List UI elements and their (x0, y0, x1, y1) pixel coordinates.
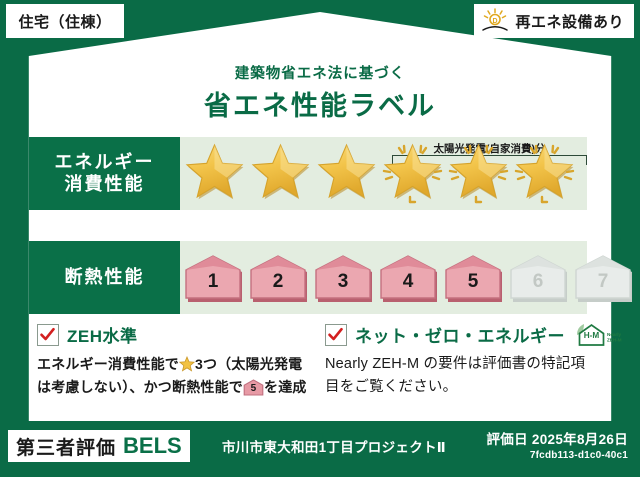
star-icon-filled (248, 139, 313, 209)
zeh-m-logo-caption2: ZEH-M (607, 337, 622, 342)
zeh-standard-title: ZEH水準 (67, 322, 138, 347)
insulation-grade-5: 5 (442, 254, 504, 302)
criteria-zeh-standard: ZEH水準 エネルギー消費性能で3つ（太陽光発電は考慮しない）、かつ断熱性能で5… (37, 322, 307, 398)
star-icon-filled (314, 139, 379, 209)
svg-text:D: D (493, 18, 498, 25)
star-icon-filled (182, 139, 247, 209)
insulation-grade-scale: 1234567 (182, 241, 634, 314)
energy-row-label: エネルギー 消費性能 (29, 137, 180, 210)
energy-row-label-line1: エネルギー (55, 152, 155, 174)
grade-badge-icon: 5 (243, 379, 264, 396)
energy-star-rating (182, 137, 577, 210)
zeh-standard-description: エネルギー消費性能で3つ（太陽光発電は考慮しない）、かつ断熱性能で5を達成 (37, 353, 307, 398)
insulation-grade-4: 4 (377, 254, 439, 302)
insulation-grade-7: 7 (572, 254, 634, 302)
renewable-equipment-chip: D 再エネ設備あり (474, 4, 634, 38)
insulation-grade-value: 1 (182, 271, 244, 293)
grade-badge-value: 5 (243, 381, 264, 397)
zeh-standard-checkbox (37, 324, 59, 346)
insulation-grade-value: 6 (507, 271, 569, 293)
energy-row-label-line2: 消費性能 (65, 174, 145, 196)
insulation-grade-value: 7 (572, 271, 634, 293)
label-subtitle: 建築物省エネ法に基づく (29, 62, 611, 83)
star-icon-solar (380, 139, 445, 209)
net-zero-checkbox (325, 324, 347, 346)
insulation-performance-row: 断熱性能 1234567 (29, 241, 587, 314)
star-icon-solar (512, 139, 577, 209)
category-chip-label: 住宅（住棟） (18, 11, 111, 32)
project-name: 市川市東大和田1丁目プロジェクトⅡ (222, 436, 446, 456)
insulation-grade-value: 3 (312, 271, 374, 293)
zeh-m-logo-text: H-M (584, 331, 600, 340)
bels-badge-jp: 第三者評価 (16, 433, 116, 460)
zeh-standard-header: ZEH水準 (37, 322, 307, 347)
insulation-grade-value: 5 (442, 271, 504, 293)
evaluation-info: 評価日 2025年8月26日 7fcdb113-d1c0-40c1 (486, 428, 628, 461)
insulation-grade-1: 1 (182, 254, 244, 302)
net-zero-header: ネット・ゼロ・エネルギー H-M Nearly ZEH-M (325, 322, 595, 347)
energy-row-body: 太陽光発電(自家消費)分 (180, 137, 587, 210)
insulation-grade-6: 6 (507, 254, 569, 302)
energy-performance-row: エネルギー 消費性能 太陽光発電(自家消費)分 (29, 137, 587, 210)
insulation-row-label: 断熱性能 (29, 241, 180, 314)
zeh-text-part1: エネルギー消費性能で (37, 356, 179, 372)
zeh-text-part4: を達成 (264, 379, 307, 395)
evaluation-id: 7fcdb113-d1c0-40c1 (486, 450, 628, 461)
renewable-chip-label: 再エネ設備あり (515, 11, 624, 32)
zeh-text-part3: は考慮しない）、かつ断熱性能で (37, 379, 243, 395)
star-icon-solar (446, 139, 511, 209)
nearly-zeh-m-icon: H-M Nearly ZEH-M (573, 322, 625, 348)
insulation-grade-value: 2 (247, 271, 309, 293)
sun-solar-icon: D (480, 8, 510, 34)
insulation-grade-value: 4 (377, 271, 439, 293)
category-chip: 住宅（住棟） (6, 4, 124, 38)
insulation-grade-2: 2 (247, 254, 309, 302)
net-zero-description: Nearly ZEH-M の要件は評価書の特記項目をご覧ください。 (325, 353, 595, 400)
energy-performance-label: 住宅（住棟） D 再エネ設備あり 建築物省エネ法に基づく 省エネ性能ラベル (0, 0, 640, 477)
net-zero-title: ネット・ゼロ・エネルギー (355, 322, 565, 347)
insulation-grade-3: 3 (312, 254, 374, 302)
star-icon (179, 356, 195, 372)
criteria-net-zero-energy: ネット・ゼロ・エネルギー H-M Nearly ZEH-M Nearly ZEH… (325, 322, 595, 400)
bels-badge-en: BELS (123, 433, 182, 459)
insulation-row-body: 1234567 (180, 241, 587, 314)
label-title: 省エネ性能ラベル (29, 84, 611, 123)
zeh-text-part2: 3つ（太陽光発電 (195, 356, 302, 372)
zeh-m-logo-caption1: Nearly (607, 332, 621, 337)
insulation-row-label-text: 断熱性能 (65, 267, 145, 289)
evaluation-date: 評価日 2025年8月26日 (486, 428, 628, 448)
bels-badge: 第三者評価 BELS (8, 430, 190, 462)
label-content: 建築物省エネ法に基づく 省エネ性能ラベル エネルギー 消費性能 太陽光発電(自家… (29, 12, 611, 421)
